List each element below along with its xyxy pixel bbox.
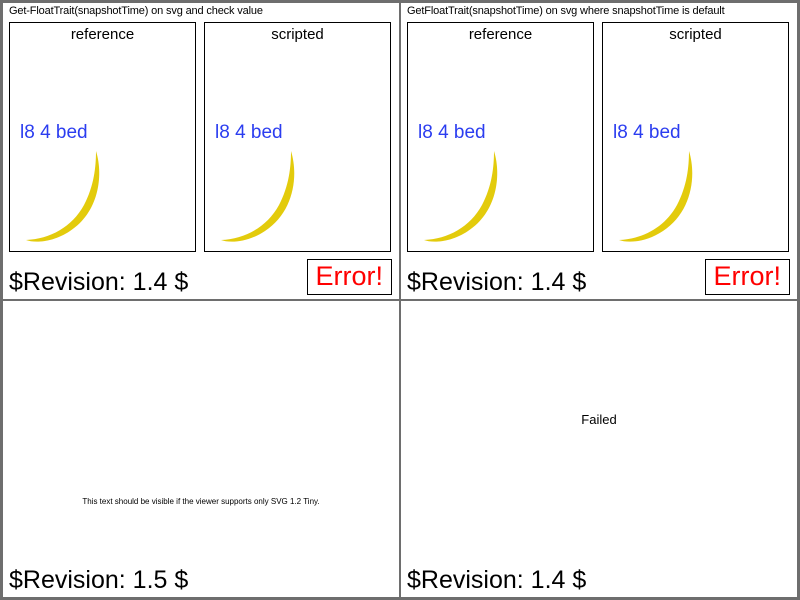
crescent-moon-icon [219, 147, 315, 247]
reference-panel: reference l8 4 bed [407, 22, 594, 252]
panel-label: reference [10, 25, 195, 44]
panel-label: scripted [205, 25, 390, 44]
crescent-moon-icon [617, 147, 713, 247]
panel-sample-text: l8 4 bed [215, 123, 283, 143]
revision-label: $Revision: 1.4 $ [407, 267, 586, 297]
quadrant-bottom-left: This text should be visible if the viewe… [0, 300, 400, 600]
status-badge: Error! [307, 259, 393, 295]
quadrant-grid: Get-FloatTrait(snapshotTime) on svg and … [0, 0, 800, 600]
reference-panel: reference l8 4 bed [9, 22, 196, 252]
panel-label: reference [408, 25, 593, 44]
revision-label: $Revision: 1.4 $ [9, 267, 188, 297]
test-title: Get-FloatTrait(snapshotTime) on svg and … [9, 4, 263, 18]
quadrant-top-left: Get-FloatTrait(snapshotTime) on svg and … [0, 0, 400, 300]
scripted-panel: scripted l8 4 bed [602, 22, 789, 252]
panel-pair: reference l8 4 bed scripted l8 4 bed [407, 22, 789, 252]
quadrant-bottom-right: Failed $Revision: 1.4 $ [400, 300, 800, 600]
panel-sample-text: l8 4 bed [418, 123, 486, 143]
panel-label: scripted [603, 25, 788, 44]
crescent-moon-icon [422, 147, 518, 247]
revision-label: $Revision: 1.4 $ [407, 565, 586, 595]
test-result-page: Get-FloatTrait(snapshotTime) on svg and … [0, 0, 800, 600]
status-badge: Error! [705, 259, 791, 295]
panel-sample-text: l8 4 bed [20, 123, 88, 143]
panel-pair: reference l8 4 bed scripted l8 4 bed [9, 22, 391, 252]
failed-note: Failed [401, 412, 797, 428]
revision-label: $Revision: 1.5 $ [9, 565, 188, 595]
quadrant-top-right: GetFloatTrait(snapshotTime) on svg where… [400, 0, 800, 300]
crescent-moon-icon [24, 147, 120, 247]
scripted-panel: scripted l8 4 bed [204, 22, 391, 252]
fallback-note: This text should be visible if the viewe… [3, 496, 399, 507]
panel-sample-text: l8 4 bed [613, 123, 681, 143]
test-title: GetFloatTrait(snapshotTime) on svg where… [407, 4, 724, 18]
